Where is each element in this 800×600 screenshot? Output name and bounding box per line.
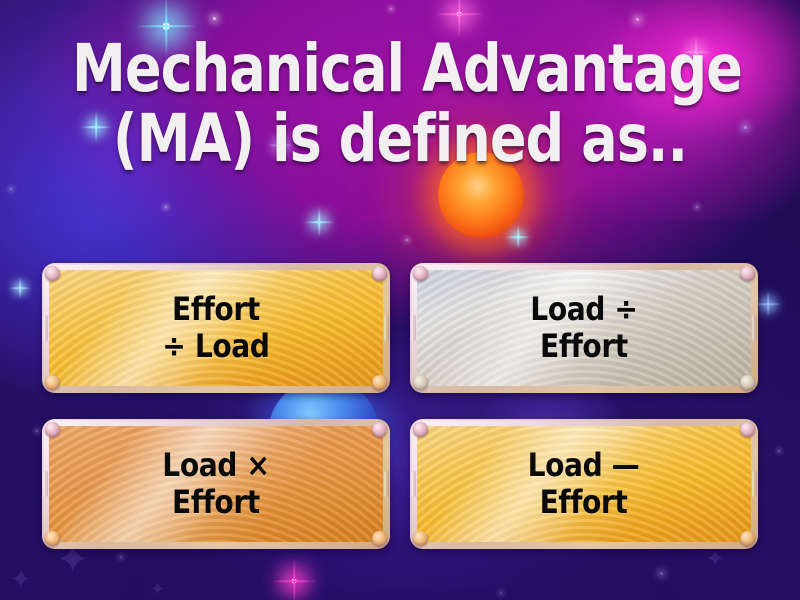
answer-option-a[interactable]: Effort ÷ Load (42, 263, 390, 393)
rivet-bottom-left-icon (45, 531, 60, 546)
rivet-top-right-icon (740, 422, 755, 437)
answer-label-a: Effort ÷ Load (154, 291, 279, 365)
sparkle-magenta-upper (680, 36, 712, 68)
star-dot-9 (660, 572, 663, 575)
frame-notch-right (384, 315, 389, 341)
answer-label-c: Load × Effort (154, 447, 279, 521)
star-dot-7 (696, 206, 698, 208)
sparkle-cyan-top-left (136, 0, 196, 56)
question-title: Mechanical Advantage (MA) is defined as.… (0, 34, 800, 174)
star-dot-0 (213, 17, 216, 20)
question-line-1: Mechanical Advantage (72, 34, 728, 104)
star-dot-2 (636, 18, 639, 21)
sparkle-violet-mid (268, 132, 294, 158)
background-glow-magenta (520, 0, 800, 220)
quiz-slide: ✦✦✦✦ Mechanical Advantage (MA) is define… (0, 0, 800, 600)
answer-options-grid: Effort ÷ Load Load ÷ Effort (42, 263, 758, 549)
frame-notch-left (43, 471, 48, 497)
orange-sun-icon (438, 152, 524, 238)
answer-label-d: Load — Effort (519, 447, 648, 521)
frame-notch-right (752, 471, 757, 497)
rivet-bottom-left-icon (413, 375, 428, 390)
rivet-bottom-right-icon (372, 375, 387, 390)
sparkle-cyan-left-title (80, 111, 112, 143)
rivet-top-left-icon (413, 266, 428, 281)
question-line-2: (MA) is defined as.. (72, 104, 728, 174)
rivet-bottom-right-icon (740, 375, 755, 390)
rivet-bottom-left-icon (413, 531, 428, 546)
ghost-star-2: ✦ (150, 580, 165, 598)
rivet-bottom-left-icon (45, 375, 60, 390)
frame-notch-left (411, 471, 416, 497)
star-dot-4 (165, 206, 167, 208)
answer-option-b[interactable]: Load ÷ Effort (410, 263, 758, 393)
rivet-top-left-icon (45, 266, 60, 281)
frame-notch-right (752, 315, 757, 341)
rivet-top-left-icon (45, 422, 60, 437)
ghost-star-1: ✦ (10, 566, 32, 592)
rivet-top-right-icon (740, 266, 755, 281)
star-dot-12 (778, 450, 780, 452)
star-dot-3 (744, 126, 747, 129)
frame-notch-left (411, 315, 416, 341)
sparkle-blue-right (755, 291, 781, 317)
rivet-bottom-right-icon (372, 531, 387, 546)
sparkle-cyan-as (506, 225, 530, 249)
star-dot-6 (406, 239, 408, 241)
star-dot-5 (10, 188, 12, 190)
star-dot-10 (500, 592, 502, 594)
sparkle-magenta-top (435, 0, 483, 38)
star-dot-8 (36, 430, 38, 432)
rivet-bottom-right-icon (740, 531, 755, 546)
rivet-top-right-icon (372, 422, 387, 437)
frame-notch-left (43, 315, 48, 341)
star-dot-1 (390, 8, 392, 10)
rivet-top-left-icon (413, 422, 428, 437)
sparkle-magenta-bottom (272, 559, 316, 600)
sparkle-cyan-defined (304, 207, 334, 237)
answer-option-c[interactable]: Load × Effort (42, 419, 390, 549)
answer-option-d[interactable]: Load — Effort (410, 419, 758, 549)
frame-notch-right (384, 471, 389, 497)
answer-label-b: Load ÷ Effort (522, 291, 647, 365)
star-dot-11 (120, 556, 122, 558)
rivet-top-right-icon (372, 266, 387, 281)
ghost-star-3: ✦ (706, 548, 724, 570)
sparkle-cyan-left-edge (9, 277, 31, 299)
